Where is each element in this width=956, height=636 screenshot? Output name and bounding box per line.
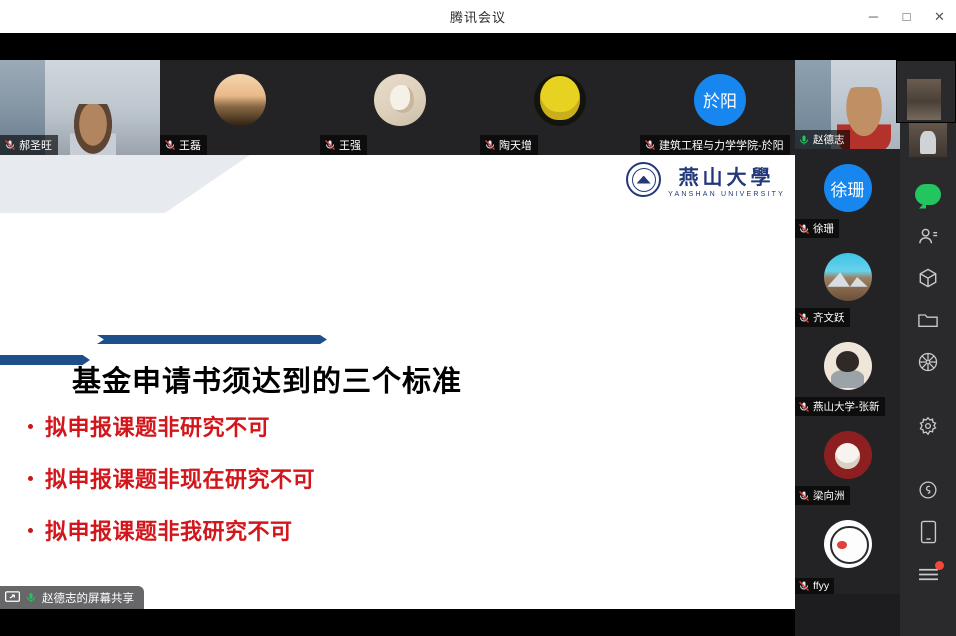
participant-tile[interactable]: 王强 <box>320 60 480 155</box>
participant-name: 建筑工程与力学学院-於阳 <box>659 137 784 153</box>
mic-muted-icon <box>798 223 810 235</box>
university-name-cn: 燕山大學 <box>679 161 775 190</box>
shared-screen-stage[interactable]: 燕山大學 YANSHAN UNIVERSITY 基金申请书须达到的三个标准 拟申… <box>0 155 795 609</box>
participant-avatar <box>534 74 586 126</box>
sidebar-participant-tile[interactable]: 齐文跃 <box>795 238 900 327</box>
participant-sidebar[interactable]: 赵德志 徐珊 徐珊 齐文跃 <box>795 60 900 636</box>
mic-muted-icon <box>798 490 810 502</box>
participant-label: 徐珊 <box>795 219 839 238</box>
participant-avatar-initials: 於阳 <box>694 74 746 126</box>
participant-name: 徐珊 <box>813 221 834 236</box>
participant-name: ffyy <box>813 580 829 592</box>
slide-bullet-item: 拟申报课题非研究不可 <box>28 410 315 442</box>
mic-muted-icon <box>798 580 810 592</box>
mic-muted-icon <box>164 139 176 151</box>
presentation-slide: 燕山大學 YANSHAN UNIVERSITY 基金申请书须达到的三个标准 拟申… <box>0 155 795 609</box>
window-titlebar: 腾讯会议 ─ □ ✕ <box>0 0 956 33</box>
participant-label: ffyy <box>795 578 834 594</box>
mic-muted-icon <box>484 139 496 151</box>
sidebar-participant-tile[interactable]: 赵德志 <box>795 60 900 149</box>
slide-title: 基金申请书须达到的三个标准 <box>72 358 462 400</box>
cube-icon[interactable] <box>900 257 956 299</box>
participant-name: 齐文跃 <box>813 310 845 325</box>
floating-video-thumbnail[interactable] <box>896 60 956 123</box>
sidebar-participant-tile[interactable]: 梁向洲 <box>795 416 900 505</box>
participant-tile[interactable]: 郝圣旺 <box>0 60 160 155</box>
participant-name: 王强 <box>339 137 361 153</box>
mic-muted-icon <box>644 139 656 151</box>
minimize-button[interactable]: ─ <box>857 0 890 33</box>
participant-label: 郝圣旺 <box>0 135 58 155</box>
participant-tile[interactable]: 於阳 建筑工程与力学学院-於阳 <box>640 60 800 155</box>
participant-name: 陶天增 <box>499 137 532 153</box>
participant-name: 燕山大学-张新 <box>813 399 880 414</box>
university-name-en: YANSHAN UNIVERSITY <box>668 191 785 198</box>
participant-label: 王强 <box>320 135 367 155</box>
participant-filmstrip[interactable]: 郝圣旺 王磊 王强 <box>0 60 900 155</box>
participants-icon[interactable] <box>900 215 956 257</box>
screen-share-text: 赵德志的屏幕共享 <box>42 590 134 606</box>
settings-gear-icon[interactable] <box>900 405 956 447</box>
mobile-icon[interactable] <box>900 511 956 553</box>
mic-muted-icon <box>798 312 810 324</box>
aperture-icon[interactable] <box>900 341 956 383</box>
participant-name: 梁向洲 <box>813 488 845 503</box>
bullet-text: 拟申报课题非研究不可 <box>45 410 270 442</box>
participant-name: 王磊 <box>179 137 201 153</box>
university-seal-icon <box>626 162 661 197</box>
bullet-text: 拟申报课题非现在研究不可 <box>45 462 315 494</box>
bullet-text: 拟申报课题非我研究不可 <box>45 514 293 546</box>
floating-video-content <box>907 79 941 119</box>
bullet-dot-icon <box>28 528 33 533</box>
screen-share-icon <box>5 591 20 604</box>
sidebar-participant-tile[interactable]: 燕山大学-张新 <box>795 327 900 416</box>
chat-icon[interactable] <box>900 173 956 215</box>
more-menu-icon[interactable] <box>900 553 956 595</box>
participant-avatar-initials: 徐珊 <box>824 164 872 212</box>
slide-accent-bar-top <box>97 335 327 344</box>
participant-avatar <box>824 431 872 479</box>
notification-badge <box>935 561 944 570</box>
meeting-window: 郝圣旺 王磊 王强 <box>0 33 956 636</box>
sidebar-participant-tile[interactable]: 徐珊 徐珊 <box>795 149 900 238</box>
mic-active-icon <box>25 591 37 604</box>
participant-avatar <box>824 253 872 301</box>
screen-share-status-bar: 赵德志的屏幕共享 <box>0 586 144 609</box>
participant-tile[interactable]: 王磊 <box>160 60 320 155</box>
participant-name: 赵德志 <box>813 132 845 147</box>
participant-label: 齐文跃 <box>795 308 850 327</box>
slide-corner-shape <box>0 155 250 213</box>
maximize-button[interactable]: □ <box>890 0 923 33</box>
slide-bullet-item: 拟申报课题非我研究不可 <box>28 514 315 546</box>
mic-muted-icon <box>798 401 810 413</box>
participant-label: 燕山大学-张新 <box>795 397 885 416</box>
participant-avatar <box>824 342 872 390</box>
participant-label: 陶天增 <box>480 135 538 155</box>
participant-label: 梁向洲 <box>795 486 850 505</box>
slide-bullet-item: 拟申报课题非现在研究不可 <box>28 462 315 494</box>
folder-icon[interactable] <box>900 299 956 341</box>
participant-name: 郝圣旺 <box>19 137 52 153</box>
music-note-icon[interactable] <box>900 469 956 511</box>
participant-label: 王磊 <box>160 135 207 155</box>
self-view-thumbnail[interactable] <box>909 117 947 157</box>
mic-muted-icon <box>324 139 336 151</box>
participant-avatar <box>214 74 266 126</box>
bullet-dot-icon <box>28 476 33 481</box>
participant-label: 赵德志 <box>795 130 850 149</box>
window-title: 腾讯会议 <box>450 7 506 26</box>
university-logo: 燕山大學 YANSHAN UNIVERSITY <box>626 161 785 198</box>
participant-label: 建筑工程与力学学院-於阳 <box>640 135 790 155</box>
sidebar-participant-tile[interactable]: ffyy <box>795 505 900 594</box>
bullet-dot-icon <box>28 424 33 429</box>
meeting-toolbar[interactable] <box>900 107 956 636</box>
participant-avatar <box>824 520 872 568</box>
close-button[interactable]: ✕ <box>923 0 956 33</box>
participant-avatar <box>374 74 426 126</box>
slide-bullet-list: 拟申报课题非研究不可 拟申报课题非现在研究不可 拟申报课题非我研究不可 <box>28 410 315 566</box>
mic-muted-icon <box>4 139 16 151</box>
mic-active-icon <box>798 134 810 146</box>
window-controls: ─ □ ✕ <box>857 0 956 33</box>
participant-tile[interactable]: 陶天增 <box>480 60 640 155</box>
